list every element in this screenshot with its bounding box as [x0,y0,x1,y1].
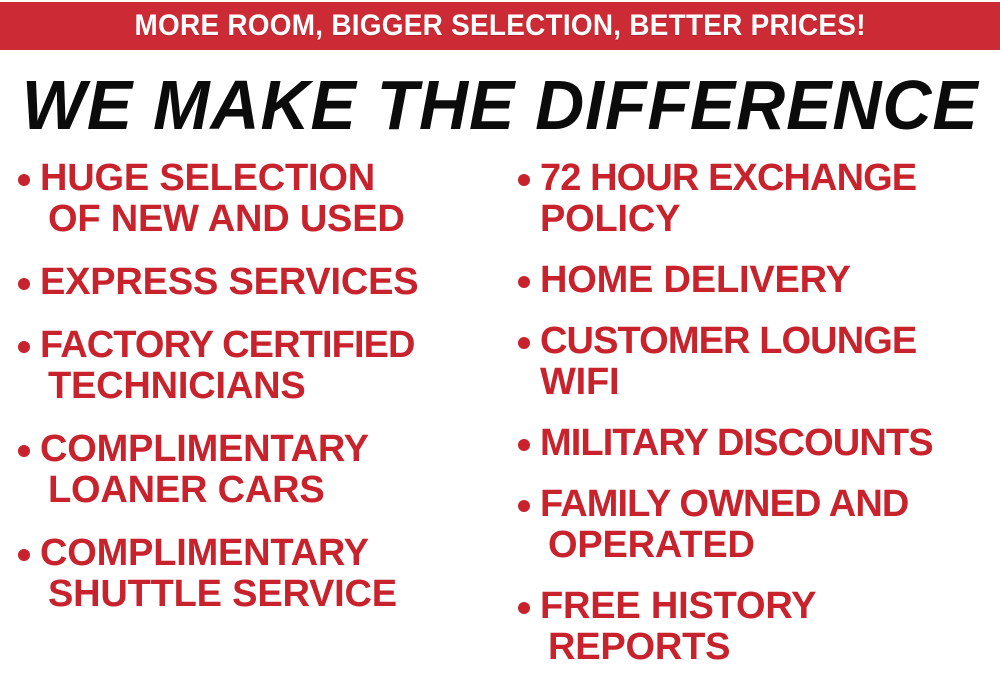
bullet-dot-icon [18,341,30,353]
list-item-line-primary: EXPRESS SERVICES [40,262,498,303]
list-item-lines: FAMILY OWNED AND OPERATED [540,484,1000,566]
list-item-line-primary: 72 HOUR EXCHANGE [540,158,1000,199]
list-item-line-primary: HOME DELIVERY [540,260,1000,301]
list-item-line-secondary: REPORTS [540,627,1000,668]
list-item: EXPRESS SERVICES [18,262,498,303]
list-item-line-primary: CUSTOMER LOUNGE [540,321,1000,362]
promo-banner-text: MORE ROOM, BIGGER SELECTION, BETTER PRIC… [134,9,865,43]
bullet-dot-icon [518,602,530,614]
list-item-lines: 72 HOUR EXCHANGE POLICY [540,158,1000,240]
bullet-dot-icon [518,439,530,451]
list-item-line-secondary: LOANER CARS [40,470,498,511]
list-item: FACTORY CERTIFIED TECHNICIANS [18,325,498,407]
list-item-lines: FREE HISTORY REPORTS [540,586,1000,668]
list-item-line-secondary: WIFI [540,362,1000,403]
list-item-line-secondary: POLICY [540,199,1000,240]
list-item-lines: HUGE SELECTION OF NEW AND USED [40,158,498,240]
features-columns: HUGE SELECTION OF NEW AND USED EXPRESS S… [0,158,1000,688]
list-item: HOME DELIVERY [518,260,1000,301]
list-item-line-primary: FREE HISTORY [540,586,1000,627]
list-item-lines: EXPRESS SERVICES [40,262,498,303]
bullet-dot-icon [518,174,530,186]
list-item-lines: HOME DELIVERY [540,260,1000,301]
list-item: MILITARY DISCOUNTS [518,423,1000,464]
list-item-lines: CUSTOMER LOUNGE WIFI [540,321,1000,403]
list-item-line-primary: COMPLIMENTARY [40,533,498,574]
bullet-dot-icon [518,500,530,512]
list-item-line-primary: COMPLIMENTARY [40,429,498,470]
bullet-dot-icon [518,276,530,288]
promo-banner: MORE ROOM, BIGGER SELECTION, BETTER PRIC… [0,2,1000,50]
bullet-dot-icon [18,549,30,561]
list-item: HUGE SELECTION OF NEW AND USED [18,158,498,240]
bullet-dot-icon [18,445,30,457]
list-item-line-secondary: TECHNICIANS [40,366,498,407]
list-item-line-primary: MILITARY DISCOUNTS [540,423,1000,464]
list-item: CUSTOMER LOUNGE WIFI [518,321,1000,403]
list-item-lines: COMPLIMENTARY SHUTTLE SERVICE [40,533,498,615]
features-column-right: 72 HOUR EXCHANGE POLICY HOME DELIVERY CU… [518,158,1000,688]
bullet-dot-icon [18,174,30,186]
list-item: FREE HISTORY REPORTS [518,586,1000,668]
list-item-lines: FACTORY CERTIFIED TECHNICIANS [40,325,498,407]
list-item: FAMILY OWNED AND OPERATED [518,484,1000,566]
list-item-line-secondary: SHUTTLE SERVICE [40,574,498,615]
list-item-line-secondary: OF NEW AND USED [40,199,498,240]
list-item: COMPLIMENTARY SHUTTLE SERVICE [18,533,498,615]
list-item-line-secondary: OPERATED [540,525,1000,566]
list-item: 72 HOUR EXCHANGE POLICY [518,158,1000,240]
list-item: COMPLIMENTARY LOANER CARS [18,429,498,511]
bullet-dot-icon [18,278,30,290]
headline-text: WE MAKE THE DIFFERENCE [22,70,979,140]
list-item-line-primary: FAMILY OWNED AND [540,484,1000,525]
list-item-lines: COMPLIMENTARY LOANER CARS [40,429,498,511]
features-column-left: HUGE SELECTION OF NEW AND USED EXPRESS S… [18,158,498,637]
list-item-line-primary: FACTORY CERTIFIED [40,325,498,366]
list-item-line-primary: HUGE SELECTION [40,158,498,199]
list-item-lines: MILITARY DISCOUNTS [540,423,1000,464]
bullet-dot-icon [518,337,530,349]
headline-container: WE MAKE THE DIFFERENCE [0,64,1000,146]
